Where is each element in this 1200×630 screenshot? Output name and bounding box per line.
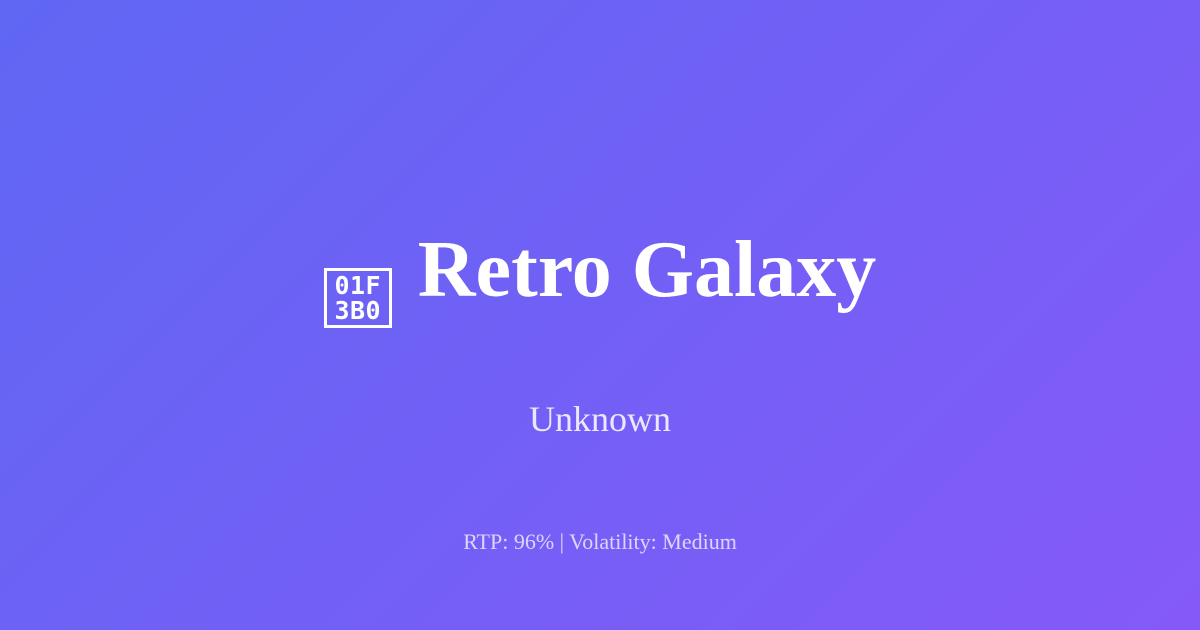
slot-machine-tofu-icon: 01F 3B0 — [324, 268, 392, 328]
tofu-codepoint-low: 3B0 — [334, 298, 381, 323]
page-title: Retro Galaxy — [418, 228, 876, 312]
game-stats-line: RTP: 96% | Volatility: Medium — [0, 528, 1200, 556]
tofu-codepoint-high: 01F — [334, 273, 381, 298]
og-share-card: 01F 3B0 Retro Galaxy Unknown RTP: 96% | … — [0, 0, 1200, 630]
game-provider-subtitle: Unknown — [529, 398, 671, 440]
title-row: 01F 3B0 Retro Galaxy — [324, 174, 876, 365]
